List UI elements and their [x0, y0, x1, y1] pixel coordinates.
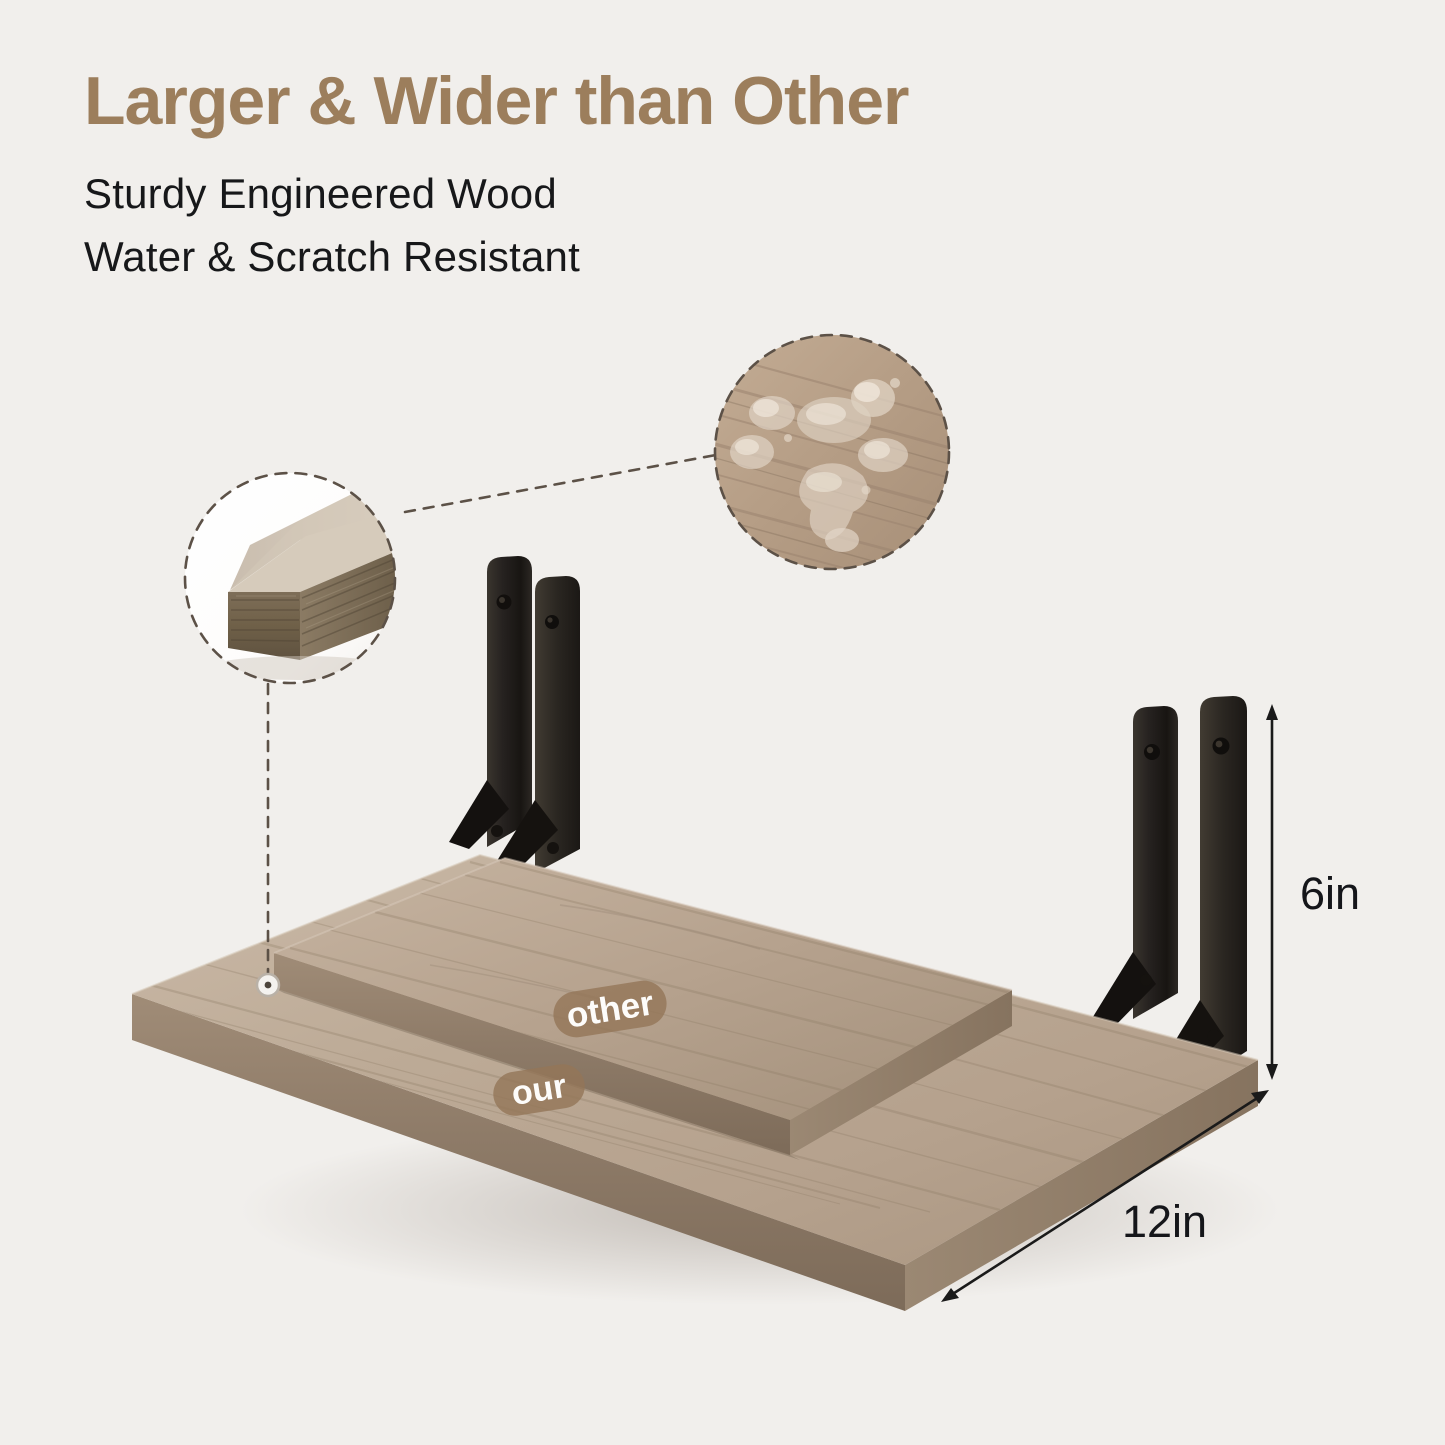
bracket-left-back — [449, 556, 532, 849]
screw-icon — [491, 825, 503, 837]
bracket-right-back — [1091, 706, 1178, 1028]
leader-edge-to-water — [405, 455, 716, 512]
callout-edge-closeup — [185, 470, 404, 683]
callout-water-closeup — [700, 335, 965, 600]
screw-icon — [1208, 1030, 1221, 1043]
callout-anchor-dot — [257, 974, 279, 996]
dimension-label-height: 6in — [1300, 868, 1360, 920]
screw-icon — [547, 842, 559, 854]
infographic-canvas: Larger & Wider than Other Sturdy Enginee… — [0, 0, 1445, 1445]
screw-icon — [1140, 974, 1152, 986]
product-illustration — [0, 0, 1445, 1445]
dimension-label-depth: 12in — [1122, 1196, 1207, 1248]
bracket-left-pair — [449, 556, 580, 873]
screw-icon — [545, 615, 559, 629]
